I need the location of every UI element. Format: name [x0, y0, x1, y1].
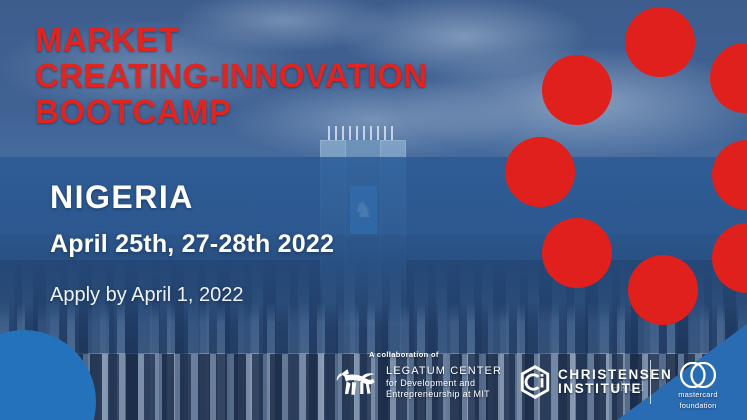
- legatum-line-1: LEGATUM CENTER: [386, 365, 502, 378]
- legatum-line-3: Entrepreneurship at MIT: [386, 389, 502, 400]
- page-title: MARKET CREATING-INNOVATION BOOTCAMP: [35, 22, 428, 130]
- red-dot: [628, 255, 698, 325]
- legatum-text-block: LEGATUM CENTER for Development and Entre…: [386, 365, 502, 400]
- mastercard-circles-icon: [676, 362, 720, 388]
- country-label: NIGERIA: [50, 180, 194, 214]
- pegasus-horse-icon: [333, 362, 381, 402]
- collaboration-label: A collaboration of: [369, 350, 439, 359]
- mastercard-line-1: mastercard: [662, 390, 734, 399]
- legatum-line-2: for Development and: [386, 378, 502, 389]
- mastercard-line-2: foundation: [662, 401, 734, 410]
- logo-divider: [650, 360, 651, 404]
- apply-deadline: Apply by April 1, 2022: [50, 283, 243, 307]
- event-dates: April 25th, 27-28th 2022: [50, 230, 334, 258]
- partner-logo-legatum-center: LEGATUM CENTER for Development and Entre…: [333, 362, 502, 402]
- red-dot: [542, 218, 612, 288]
- red-dot: [625, 7, 695, 77]
- hexagon-ci-icon: [518, 365, 552, 399]
- red-dot: [505, 137, 575, 207]
- promotional-poster: ♞ MARKET CREATING-INNOVATION BOOTCAMP NI…: [0, 0, 747, 420]
- partner-logo-mastercard-foundation: mastercard foundation: [662, 362, 734, 410]
- red-dot: [542, 55, 612, 125]
- image-watermark: akud: [612, 379, 645, 396]
